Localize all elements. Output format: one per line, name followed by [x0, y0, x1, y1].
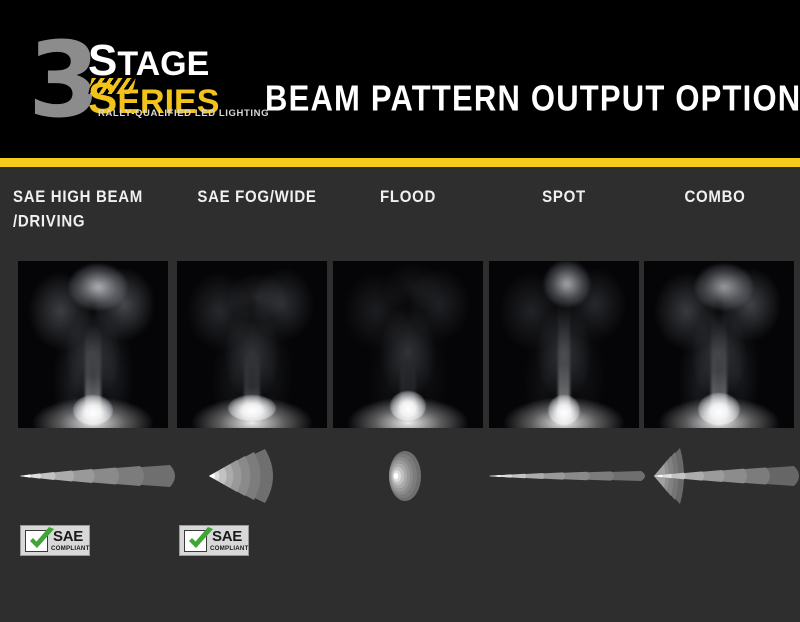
- beam-pattern-columns: SAE HIGH BEAM /DRIVING: [0, 167, 800, 622]
- beam-diagram-spot: [477, 445, 653, 507]
- beam-diagram-combo: [632, 445, 800, 507]
- beam-column-flood: FLOOD: [333, 167, 485, 622]
- beam-diagram-sae-fog-wide: [165, 445, 341, 507]
- brand-logo: 3 STAGE SERIES RALLY-QUALIFIED LED LIGHT…: [28, 26, 243, 136]
- beam-diagram-sae-high-beam-driving: [6, 445, 182, 507]
- column-label-line-1: SAE HIGH BEAM: [13, 185, 189, 210]
- beam-photo-combo: [644, 261, 794, 428]
- sae-badge-subtitle: COMPLIANT: [210, 545, 249, 552]
- photo-upper-canopy-glow: [384, 264, 442, 310]
- beam-column-combo: COMBO: [644, 167, 796, 622]
- logo-numeral-3: 3: [28, 28, 96, 132]
- page-title: BEAM PATTERN OUTPUT OPTIONS: [265, 78, 800, 120]
- beam-column-sae-fog-wide: SAE FOG/WIDE: [177, 167, 329, 622]
- yellow-accent-divider: [0, 158, 800, 167]
- beam-column-spot: SPOT: [489, 167, 641, 622]
- photo-upper-canopy-glow: [69, 264, 127, 310]
- header-bar: 3 STAGE SERIES RALLY-QUALIFIED LED LIGHT…: [0, 0, 800, 158]
- column-label-line-1: SPOT: [476, 185, 652, 210]
- beam-photo-sae-fog-wide: [177, 261, 327, 428]
- column-label-sae-fog-wide: SAE FOG/WIDE: [169, 185, 345, 210]
- sae-badge-subtitle: COMPLIANT: [51, 545, 90, 552]
- column-label-spot: SPOT: [476, 185, 652, 210]
- beam-photo-sae-high-beam-driving: [18, 261, 168, 428]
- beam-diagram-flood: [321, 445, 497, 507]
- photo-beam-hotspot: [698, 393, 740, 425]
- beam-pattern-infographic: 3 STAGE SERIES RALLY-QUALIFIED LED LIGHT…: [0, 0, 800, 622]
- column-label-combo: COMBO: [627, 185, 800, 210]
- logo-tagline: RALLY-QUALIFIED LED LIGHTING: [98, 108, 269, 119]
- column-label-line-1: COMBO: [627, 185, 800, 210]
- sae-badge-title: SAE: [212, 529, 242, 544]
- photo-beam-hotspot: [73, 395, 113, 425]
- column-label-line-2: /DRIVING: [13, 210, 189, 235]
- beam-photo-spot: [489, 261, 639, 428]
- column-label-sae-high-beam-driving: SAE HIGH BEAM /DRIVING: [13, 185, 189, 234]
- column-label-line-1: SAE FOG/WIDE: [169, 185, 345, 210]
- sae-badge-title: SAE: [53, 529, 83, 544]
- beam-photo-flood: [333, 261, 483, 428]
- sae-compliant-badge-column-0: SAE COMPLIANT: [20, 525, 90, 556]
- column-label-flood: FLOOD: [320, 185, 496, 210]
- beam-column-sae-high-beam-driving: SAE HIGH BEAM /DRIVING: [18, 167, 170, 622]
- column-label-line-1: FLOOD: [320, 185, 496, 210]
- sae-compliant-badge-column-1: SAE COMPLIANT: [179, 525, 249, 556]
- photo-beam-hotspot: [548, 395, 580, 425]
